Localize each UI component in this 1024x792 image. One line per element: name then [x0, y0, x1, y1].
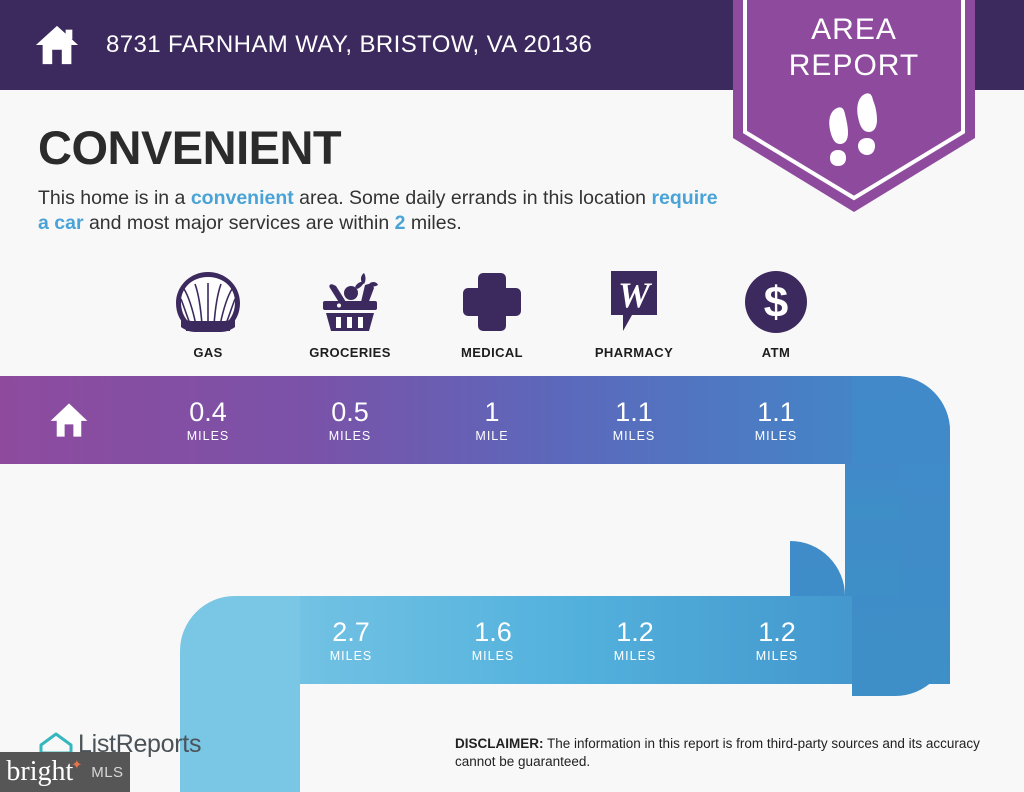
amenity-label: GROCERIES [309, 345, 391, 360]
area-report-badge: AREA REPORT [733, 0, 975, 212]
subtitle-text-2: area. Some daily errands in this locatio… [294, 187, 652, 209]
amenity-icon-row-1: GAS [137, 268, 989, 360]
disclaimer: DISCLAIMER: The information in this repo… [455, 735, 995, 771]
home-icon [34, 22, 80, 68]
dollar-atm-icon: $ [744, 268, 808, 336]
shell-gas-icon [175, 268, 241, 336]
subtitle-text-4: miles. [405, 212, 461, 234]
amenity-pharmacy: W PHARMACY [563, 268, 705, 360]
subtitle-highlight-1: convenient [191, 187, 294, 209]
page-subtitle: This home is in a convenient area. Some … [38, 186, 728, 236]
amenity-medical: MEDICAL [421, 268, 563, 360]
medical-cross-icon [461, 268, 523, 336]
amenity-atm: $ ATM [705, 268, 847, 360]
bright-wordmark: bright [6, 756, 73, 788]
subtitle-text-1: This home is in a [38, 187, 191, 209]
page-title: CONVENIENT [38, 120, 341, 175]
amenity-label: PHARMACY [595, 345, 673, 360]
disclaimer-label: DISCLAIMER: [455, 736, 544, 751]
amenity-groceries: GROCERIES [279, 268, 421, 360]
mls-label: MLS [91, 764, 123, 781]
bright-mls-watermark: bright ✦ MLS [0, 752, 130, 792]
subtitle-text-3: and most major services are within [84, 212, 395, 234]
svg-text:W: W [618, 275, 653, 315]
grocery-basket-icon [317, 268, 383, 336]
area-report-page: 8731 FARNHAM WAY, BRISTOW, VA 20136 AREA… [0, 0, 1024, 792]
amenity-label: GAS [193, 345, 222, 360]
subtitle-highlight-3: 2 [395, 212, 406, 234]
svg-text:$: $ [764, 278, 788, 327]
badge-shape [733, 0, 975, 212]
walgreens-pharmacy-icon: W [605, 268, 663, 336]
amenity-label: MEDICAL [461, 345, 523, 360]
property-address: 8731 FARNHAM WAY, BRISTOW, VA 20136 [106, 31, 592, 59]
amenity-gas: GAS [137, 268, 279, 360]
amenity-label: ATM [762, 345, 790, 360]
bright-star-icon: ✦ [71, 757, 82, 773]
